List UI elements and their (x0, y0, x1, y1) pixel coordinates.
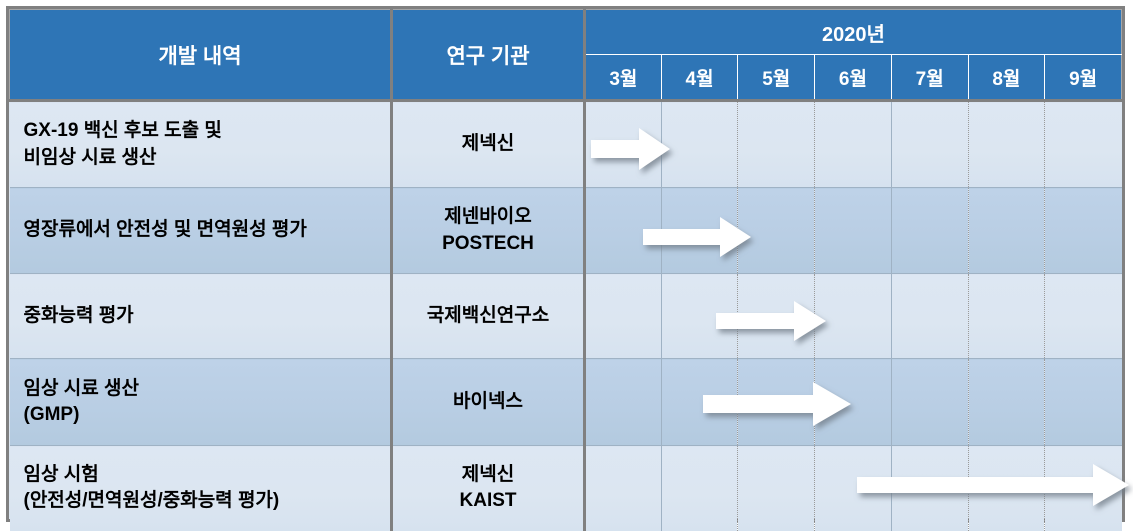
cell-r1-m5 (738, 101, 815, 188)
org-label-line2: POSTECH (393, 231, 583, 257)
table-row: 중화능력 평가 국제백신연구소 (10, 274, 1122, 359)
cell-r4-m8 (968, 359, 1045, 446)
header-month-6: 6월 (815, 55, 892, 101)
row-task-cell: 중화능력 평가 (10, 274, 392, 359)
cell-r5-m8 (968, 446, 1045, 531)
gantt-chart-board: 개발 내역 연구 기관 2020년 3월 4월 5월 6월 7월 8월 9월 (0, 0, 1133, 528)
task-label-line1: 임상 시험 (24, 462, 391, 488)
cell-r2-m9 (1045, 188, 1122, 274)
cell-r1-m7 (891, 101, 968, 188)
schedule-table-frame: 개발 내역 연구 기관 2020년 3월 4월 5월 6월 7월 8월 9월 (6, 6, 1125, 522)
cell-r5-m3 (585, 446, 662, 531)
task-label-line2: (안전성/면역원성/중화능력 평가) (24, 488, 391, 514)
header-org-column: 연구 기관 (392, 10, 585, 101)
cell-r3-m3 (585, 274, 662, 359)
cell-r2-m7 (891, 188, 968, 274)
cell-r4-m4 (661, 359, 738, 446)
cell-r3-m4 (661, 274, 738, 359)
cell-r4-m7 (891, 359, 968, 446)
row-org-cell: 바이넥스 (392, 359, 585, 446)
header-month-5: 5월 (738, 55, 815, 101)
cell-r5-m7 (891, 446, 968, 531)
task-label-line1: 영장류에서 안전성 및 면역원성 평가 (24, 217, 391, 243)
org-label-line2: KAIST (393, 488, 583, 514)
row-task-cell: 임상 시료 생산 (GMP) (10, 359, 392, 446)
cell-r5-m9 (1045, 446, 1122, 531)
task-label-line2: 비임상 시료 생산 (24, 145, 391, 171)
cell-r2-m4 (661, 188, 738, 274)
header-year: 2020년 (585, 10, 1122, 55)
cell-r2-m5 (738, 188, 815, 274)
table-row: 영장류에서 안전성 및 면역원성 평가 제넨바이오 POSTECH (10, 188, 1122, 274)
org-label-line1: 제넥신 (393, 131, 583, 157)
header-month-3: 3월 (585, 55, 662, 101)
cell-r5-m5 (738, 446, 815, 531)
development-schedule-table: 개발 내역 연구 기관 2020년 3월 4월 5월 6월 7월 8월 9월 (9, 9, 1122, 531)
cell-r1-m3 (585, 101, 662, 188)
cell-r5-m6 (815, 446, 892, 531)
header-row-top: 개발 내역 연구 기관 2020년 (10, 10, 1122, 55)
cell-r2-m6 (815, 188, 892, 274)
table-header: 개발 내역 연구 기관 2020년 3월 4월 5월 6월 7월 8월 9월 (10, 10, 1122, 101)
header-month-7: 7월 (891, 55, 968, 101)
table-row: 임상 시료 생산 (GMP) 바이넥스 (10, 359, 1122, 446)
cell-r4-m5 (738, 359, 815, 446)
cell-r4-m6 (815, 359, 892, 446)
task-label-line1: 임상 시료 생산 (24, 376, 391, 402)
cell-r1-m4 (661, 101, 738, 188)
header-month-4: 4월 (661, 55, 738, 101)
row-task-cell: 임상 시험 (안전성/면역원성/중화능력 평가) (10, 446, 392, 531)
row-org-cell: 제넥신 KAIST (392, 446, 585, 531)
cell-r4-m3 (585, 359, 662, 446)
cell-r3-m6 (815, 274, 892, 359)
row-org-cell: 제넥신 (392, 101, 585, 188)
row-org-cell: 국제백신연구소 (392, 274, 585, 359)
table-body: GX-19 백신 후보 도출 및 비임상 시료 생산 제넥신 (10, 101, 1122, 531)
org-label-line1: 바이넥스 (393, 389, 583, 415)
cell-r2-m3 (585, 188, 662, 274)
task-label-line2: (GMP) (24, 402, 391, 428)
row-task-cell: 영장류에서 안전성 및 면역원성 평가 (10, 188, 392, 274)
cell-r5-m4 (661, 446, 738, 531)
header-task-column: 개발 내역 (10, 10, 392, 101)
header-month-8: 8월 (968, 55, 1045, 101)
cell-r1-m6 (815, 101, 892, 188)
org-label-line1: 제넨바이오 (393, 204, 583, 230)
task-label-line1: GX-19 백신 후보 도출 및 (24, 118, 391, 144)
header-month-9: 9월 (1045, 55, 1122, 101)
row-task-cell: GX-19 백신 후보 도출 및 비임상 시료 생산 (10, 101, 392, 188)
cell-r1-m9 (1045, 101, 1122, 188)
cell-r3-m9 (1045, 274, 1122, 359)
task-label-line1: 중화능력 평가 (24, 303, 391, 329)
cell-r3-m8 (968, 274, 1045, 359)
table-row: 임상 시험 (안전성/면역원성/중화능력 평가) 제넥신 KAIST (10, 446, 1122, 531)
org-label-line1: 국제백신연구소 (393, 303, 583, 329)
row-org-cell: 제넨바이오 POSTECH (392, 188, 585, 274)
cell-r4-m9 (1045, 359, 1122, 446)
table-row: GX-19 백신 후보 도출 및 비임상 시료 생산 제넥신 (10, 101, 1122, 188)
org-label-line1: 제넥신 (393, 462, 583, 488)
cell-r1-m8 (968, 101, 1045, 188)
cell-r2-m8 (968, 188, 1045, 274)
cell-r3-m5 (738, 274, 815, 359)
cell-r3-m7 (891, 274, 968, 359)
